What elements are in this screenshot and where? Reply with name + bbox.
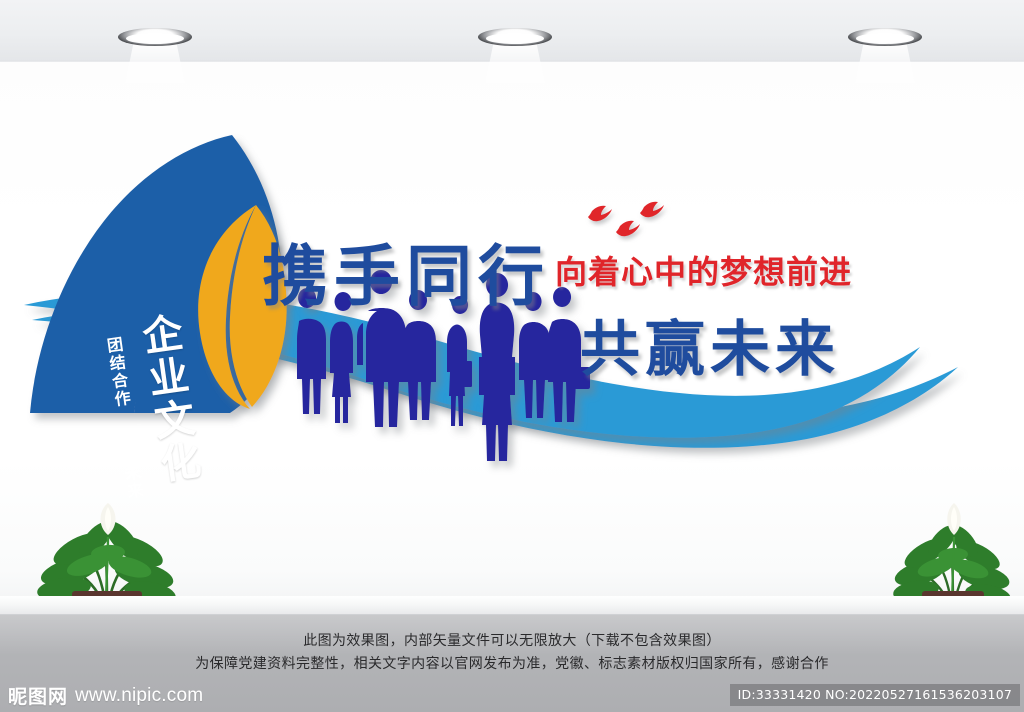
bird-icon [616, 221, 640, 237]
slogan-sub: 共赢未来 [580, 301, 840, 388]
ceiling-light-icon [478, 28, 552, 46]
slogan-main: 携手同行 [262, 223, 550, 319]
asset-id-tag: ID:33331420 NO:20220527161536203107 [730, 684, 1020, 706]
site-watermark: 昵图网 www.nipic.com [8, 682, 203, 709]
caption-line-2: 为保障党建资料完整性，相关文字内容以官网发布为准，党徽、标志素材版权归国家所有，… [0, 653, 1024, 673]
watermark-url: www.nipic.com [75, 685, 203, 707]
watermark-logo: 昵图网 [8, 682, 68, 709]
light-lens [486, 33, 544, 44]
slogan-accent: 向着心中的梦想前进 [555, 247, 852, 293]
bird-icon [588, 206, 612, 222]
caption-line-1: 此图为效果图，内部矢量文件可以无限放大（下载不包含效果图） [0, 630, 1024, 650]
ceiling-light-icon [848, 28, 922, 46]
bird-icon [640, 202, 664, 218]
baseboard [0, 596, 1024, 615]
light-lens [856, 33, 914, 44]
ceiling-light-icon [118, 28, 192, 46]
light-lens [126, 33, 184, 44]
screenshot-root: 企业文化 团结合作 共赢未来 携手同行 向着心中的梦想前进 共赢未来 [0, 0, 1024, 712]
